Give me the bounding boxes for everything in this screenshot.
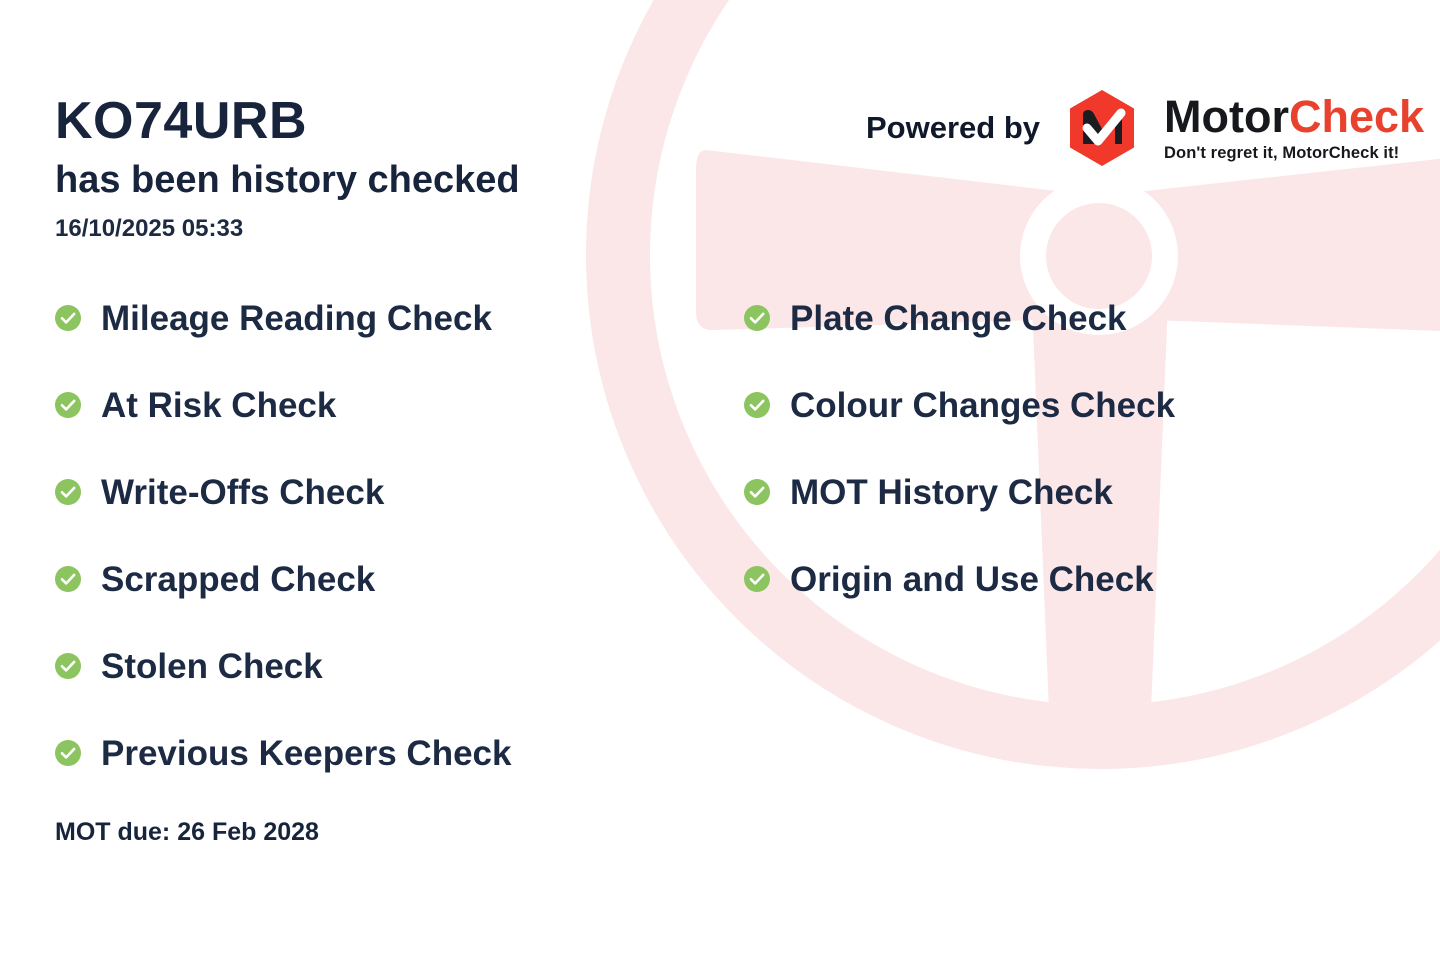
check-circle-icon <box>744 566 770 592</box>
checks-left-column: Mileage Reading Check At Risk Check Writ… <box>55 296 511 818</box>
check-circle-icon <box>55 392 81 418</box>
check-label: Stolen Check <box>101 649 323 684</box>
check-circle-icon <box>55 566 81 592</box>
brand-tagline: Don't regret it, MotorCheck it! <box>1164 144 1424 163</box>
check-circle-icon <box>744 305 770 331</box>
check-circle-icon <box>744 479 770 505</box>
mot-due-text: MOT due: 26 Feb 2028 <box>55 818 319 847</box>
list-item: Stolen Check <box>55 644 511 688</box>
check-label: At Risk Check <box>101 388 336 423</box>
check-label: Previous Keepers Check <box>101 736 511 771</box>
list-item: Colour Changes Check <box>744 383 1175 427</box>
check-label: Colour Changes Check <box>790 388 1175 423</box>
wordmark-check: Check <box>1289 91 1424 142</box>
list-item: Previous Keepers Check <box>55 731 511 775</box>
check-circle-icon <box>55 305 81 331</box>
powered-by-label: Powered by <box>866 110 1040 146</box>
list-item: Write-Offs Check <box>55 470 511 514</box>
check-label: Plate Change Check <box>790 301 1127 336</box>
list-item: At Risk Check <box>55 383 511 427</box>
check-circle-icon <box>55 740 81 766</box>
list-item: MOT History Check <box>744 470 1175 514</box>
check-label: Write-Offs Check <box>101 475 384 510</box>
wordmark-text: MotorCheck <box>1164 94 1424 139</box>
motorcheck-wordmark: MotorCheck Don't regret it, MotorCheck i… <box>1164 94 1424 163</box>
history-check-summary-card: KO74URB has been history checked 16/10/2… <box>0 0 1440 960</box>
check-label: Origin and Use Check <box>790 562 1154 597</box>
wordmark-motor: Motor <box>1164 91 1289 142</box>
motorcheck-hexagon-icon <box>1064 88 1140 168</box>
check-label: Scrapped Check <box>101 562 375 597</box>
list-item: Plate Change Check <box>744 296 1175 340</box>
check-circle-icon <box>55 653 81 679</box>
powered-by-lockup: Powered by MotorCheck Don't regret it, M… <box>866 88 1424 168</box>
registration-plate-title: KO74URB <box>55 94 307 149</box>
check-label: Mileage Reading Check <box>101 301 492 336</box>
list-item: Scrapped Check <box>55 557 511 601</box>
check-circle-icon <box>744 392 770 418</box>
check-label: MOT History Check <box>790 475 1113 510</box>
check-circle-icon <box>55 479 81 505</box>
checks-right-column: Plate Change Check Colour Changes Check … <box>744 296 1175 644</box>
headline-subtitle: has been history checked <box>55 160 520 202</box>
list-item: Origin and Use Check <box>744 557 1175 601</box>
check-timestamp: 16/10/2025 05:33 <box>55 215 243 243</box>
list-item: Mileage Reading Check <box>55 296 511 340</box>
